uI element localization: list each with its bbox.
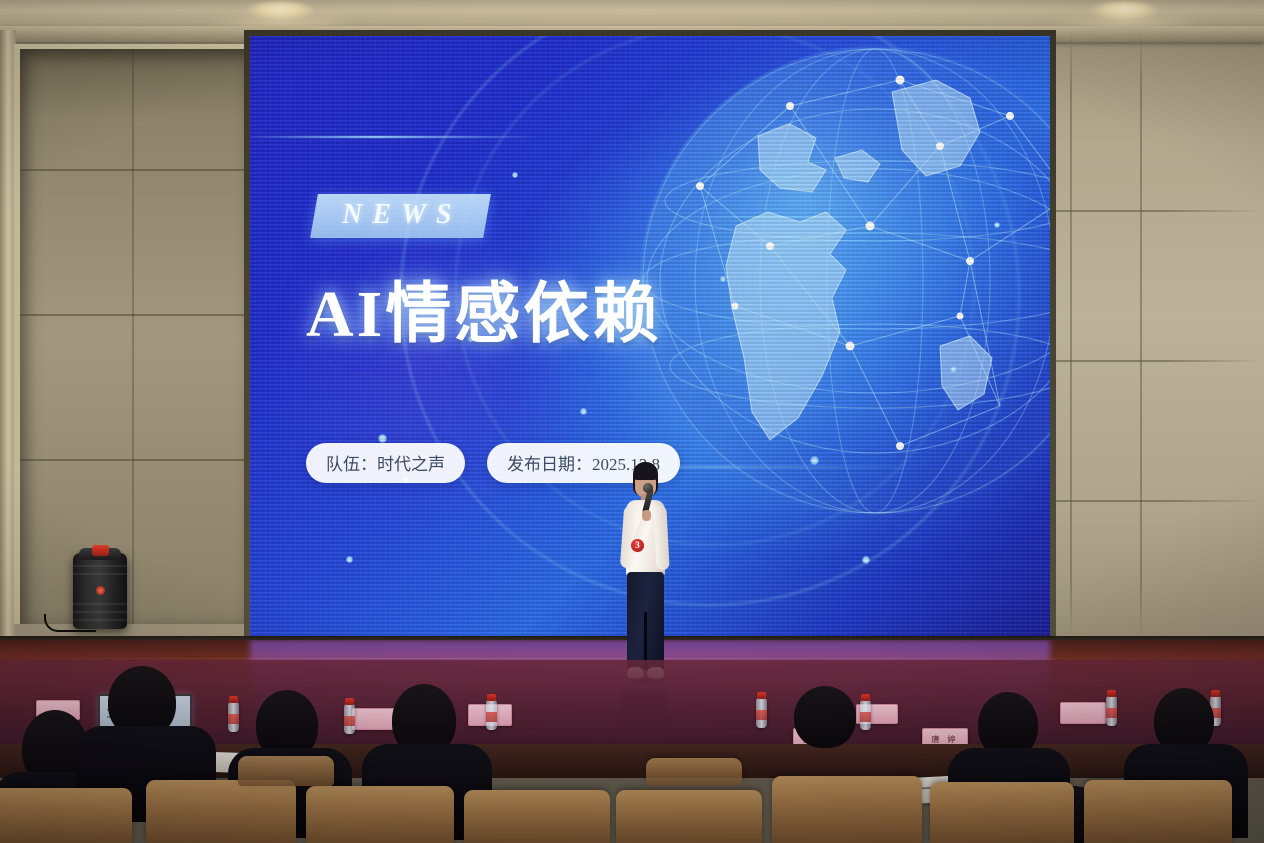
presenter-hair-top <box>633 464 658 480</box>
team-pill: 队伍：时代之声 <box>306 443 465 483</box>
presenter-hand <box>642 510 651 521</box>
presenter: 3 <box>614 462 676 690</box>
chair <box>238 756 334 786</box>
audience-area: 黄 敏 唐 婷 <box>0 660 1264 843</box>
chair <box>930 782 1074 843</box>
microphone-head-icon <box>643 483 653 493</box>
chair <box>464 790 610 843</box>
speaker-red-accent <box>92 545 109 556</box>
water-bottle <box>860 700 871 730</box>
chair <box>306 786 454 843</box>
water-bottle <box>756 698 767 728</box>
chair <box>646 758 742 786</box>
water-bottle <box>228 702 239 732</box>
presentation-title: AI情感依赖 <box>306 260 661 356</box>
nameplate <box>352 708 396 730</box>
chair <box>616 790 762 843</box>
news-badge-label: NEWS <box>342 199 461 231</box>
news-badge: NEWS <box>310 194 491 238</box>
wall-seam <box>1070 30 1072 640</box>
chair <box>1084 780 1232 843</box>
chair <box>772 776 922 843</box>
wall-alcove <box>14 44 246 624</box>
water-bottle <box>344 704 355 734</box>
contestant-number-badge: 3 <box>630 538 645 553</box>
nameplate <box>1060 702 1106 724</box>
speaker-cable <box>44 614 96 632</box>
chair <box>0 788 132 843</box>
stage-photo-scene: NEWS AI情感依赖 队伍：时代之声 发布日期：2025.12.8 <box>0 0 1264 843</box>
chair <box>146 780 296 843</box>
audience-member <box>794 686 856 748</box>
water-bottle <box>486 700 497 730</box>
wall-seam <box>1140 30 1142 640</box>
water-bottle <box>1106 696 1117 726</box>
speaker-power-led-icon <box>96 586 105 595</box>
presenter-arm-right <box>653 506 669 571</box>
